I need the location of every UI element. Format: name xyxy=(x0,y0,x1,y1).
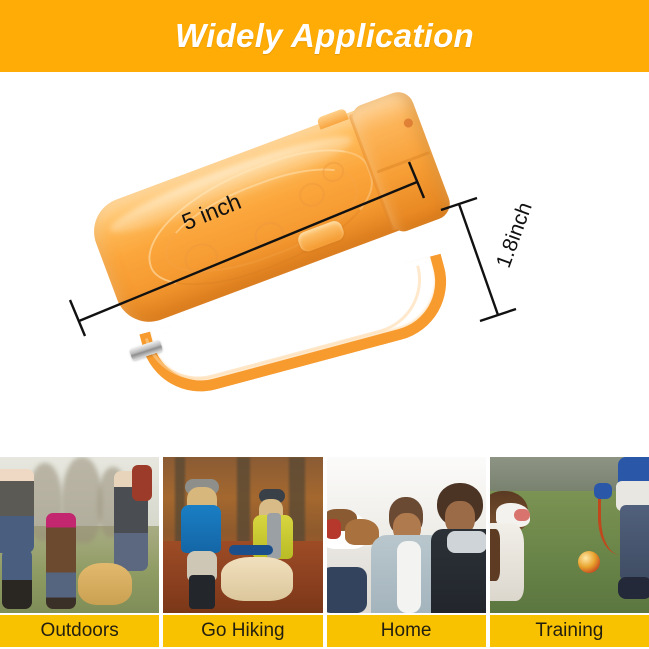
header-banner: Widely Application xyxy=(0,0,649,72)
dimension-label-width: 1.8inch xyxy=(492,199,538,271)
product-image xyxy=(88,100,468,390)
gallery-item-training[interactable]: Training xyxy=(490,457,649,649)
photo-home-with-beagle xyxy=(327,457,486,613)
product-hero: 5 inch 1.8inch xyxy=(0,72,649,457)
gallery-caption: Go Hiking xyxy=(163,615,322,647)
strap-band-inner xyxy=(145,265,434,392)
gallery-item-go-hiking[interactable]: Go Hiking xyxy=(163,457,322,649)
product-infographic: Widely Application xyxy=(0,0,649,649)
gallery-caption: Training xyxy=(490,615,649,647)
photo-family-outdoors xyxy=(0,457,159,613)
photo-kids-hiking xyxy=(163,457,322,613)
gallery-item-home[interactable]: Home xyxy=(327,457,486,649)
page-title: Widely Application xyxy=(175,17,474,55)
gallery-caption: Outdoors xyxy=(0,615,159,647)
gallery-caption: Home xyxy=(327,615,486,647)
use-case-gallery: Outdoors Go Hiking xyxy=(0,457,649,649)
gallery-item-outdoors[interactable]: Outdoors xyxy=(0,457,159,649)
wrist-strap xyxy=(116,276,426,392)
photo-dog-training xyxy=(490,457,649,613)
